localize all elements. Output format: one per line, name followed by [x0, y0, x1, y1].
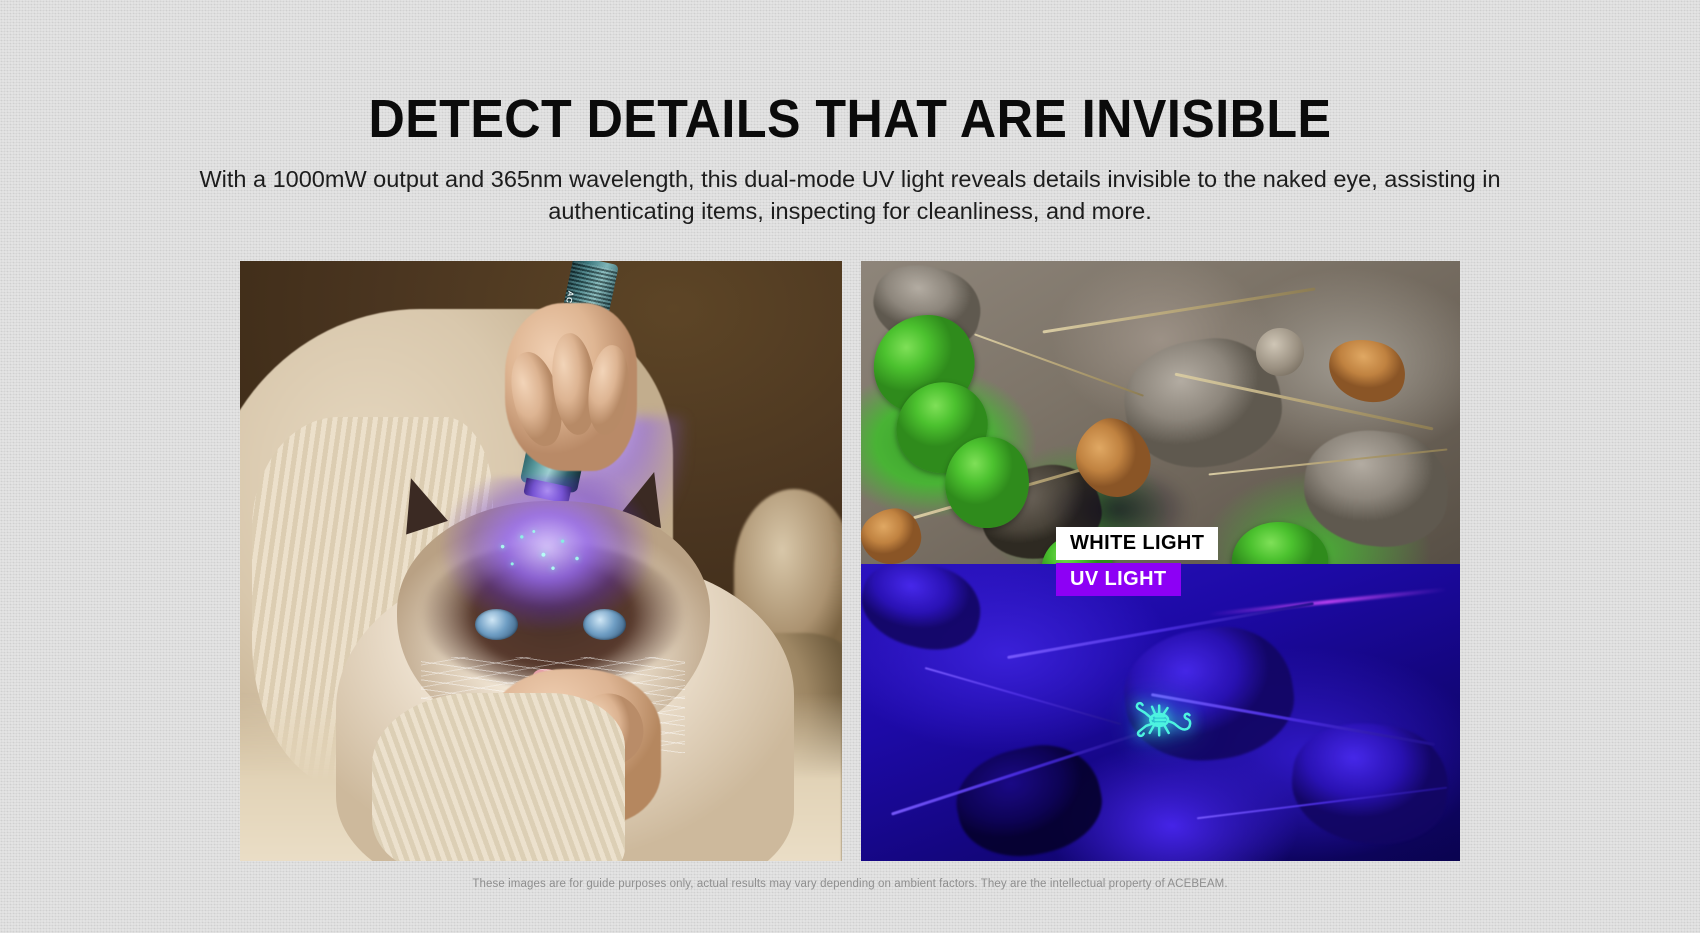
- page-subtitle: With a 1000mW output and 365nm wavelengt…: [190, 163, 1510, 227]
- page-title: DETECT DETAILS THAT ARE INVISIBLE: [60, 88, 1641, 150]
- uv-flashlight-feature-section: DETECT DETAILS THAT ARE INVISIBLE With a…: [0, 0, 1700, 933]
- badge-uv-light: UV LIGHT: [1056, 563, 1181, 596]
- cat-eye-left: [475, 609, 518, 640]
- disclaimer-text: These images are for guide purposes only…: [0, 878, 1700, 890]
- photo-ground-white-light: [861, 261, 1460, 564]
- badge-white-light: WHITE LIGHT: [1056, 527, 1218, 560]
- snail-shell-shape: [1256, 328, 1304, 376]
- knit-cuff-shape: [372, 693, 625, 861]
- media-gallery: ACEBEAM K1: [240, 261, 1460, 861]
- photo-cat-uv-flashlight: ACEBEAM K1: [240, 261, 842, 861]
- fluorescent-particles: [481, 525, 601, 579]
- glowing-scorpion-icon: [1125, 689, 1203, 754]
- photo-ground-uv-light: [861, 564, 1460, 861]
